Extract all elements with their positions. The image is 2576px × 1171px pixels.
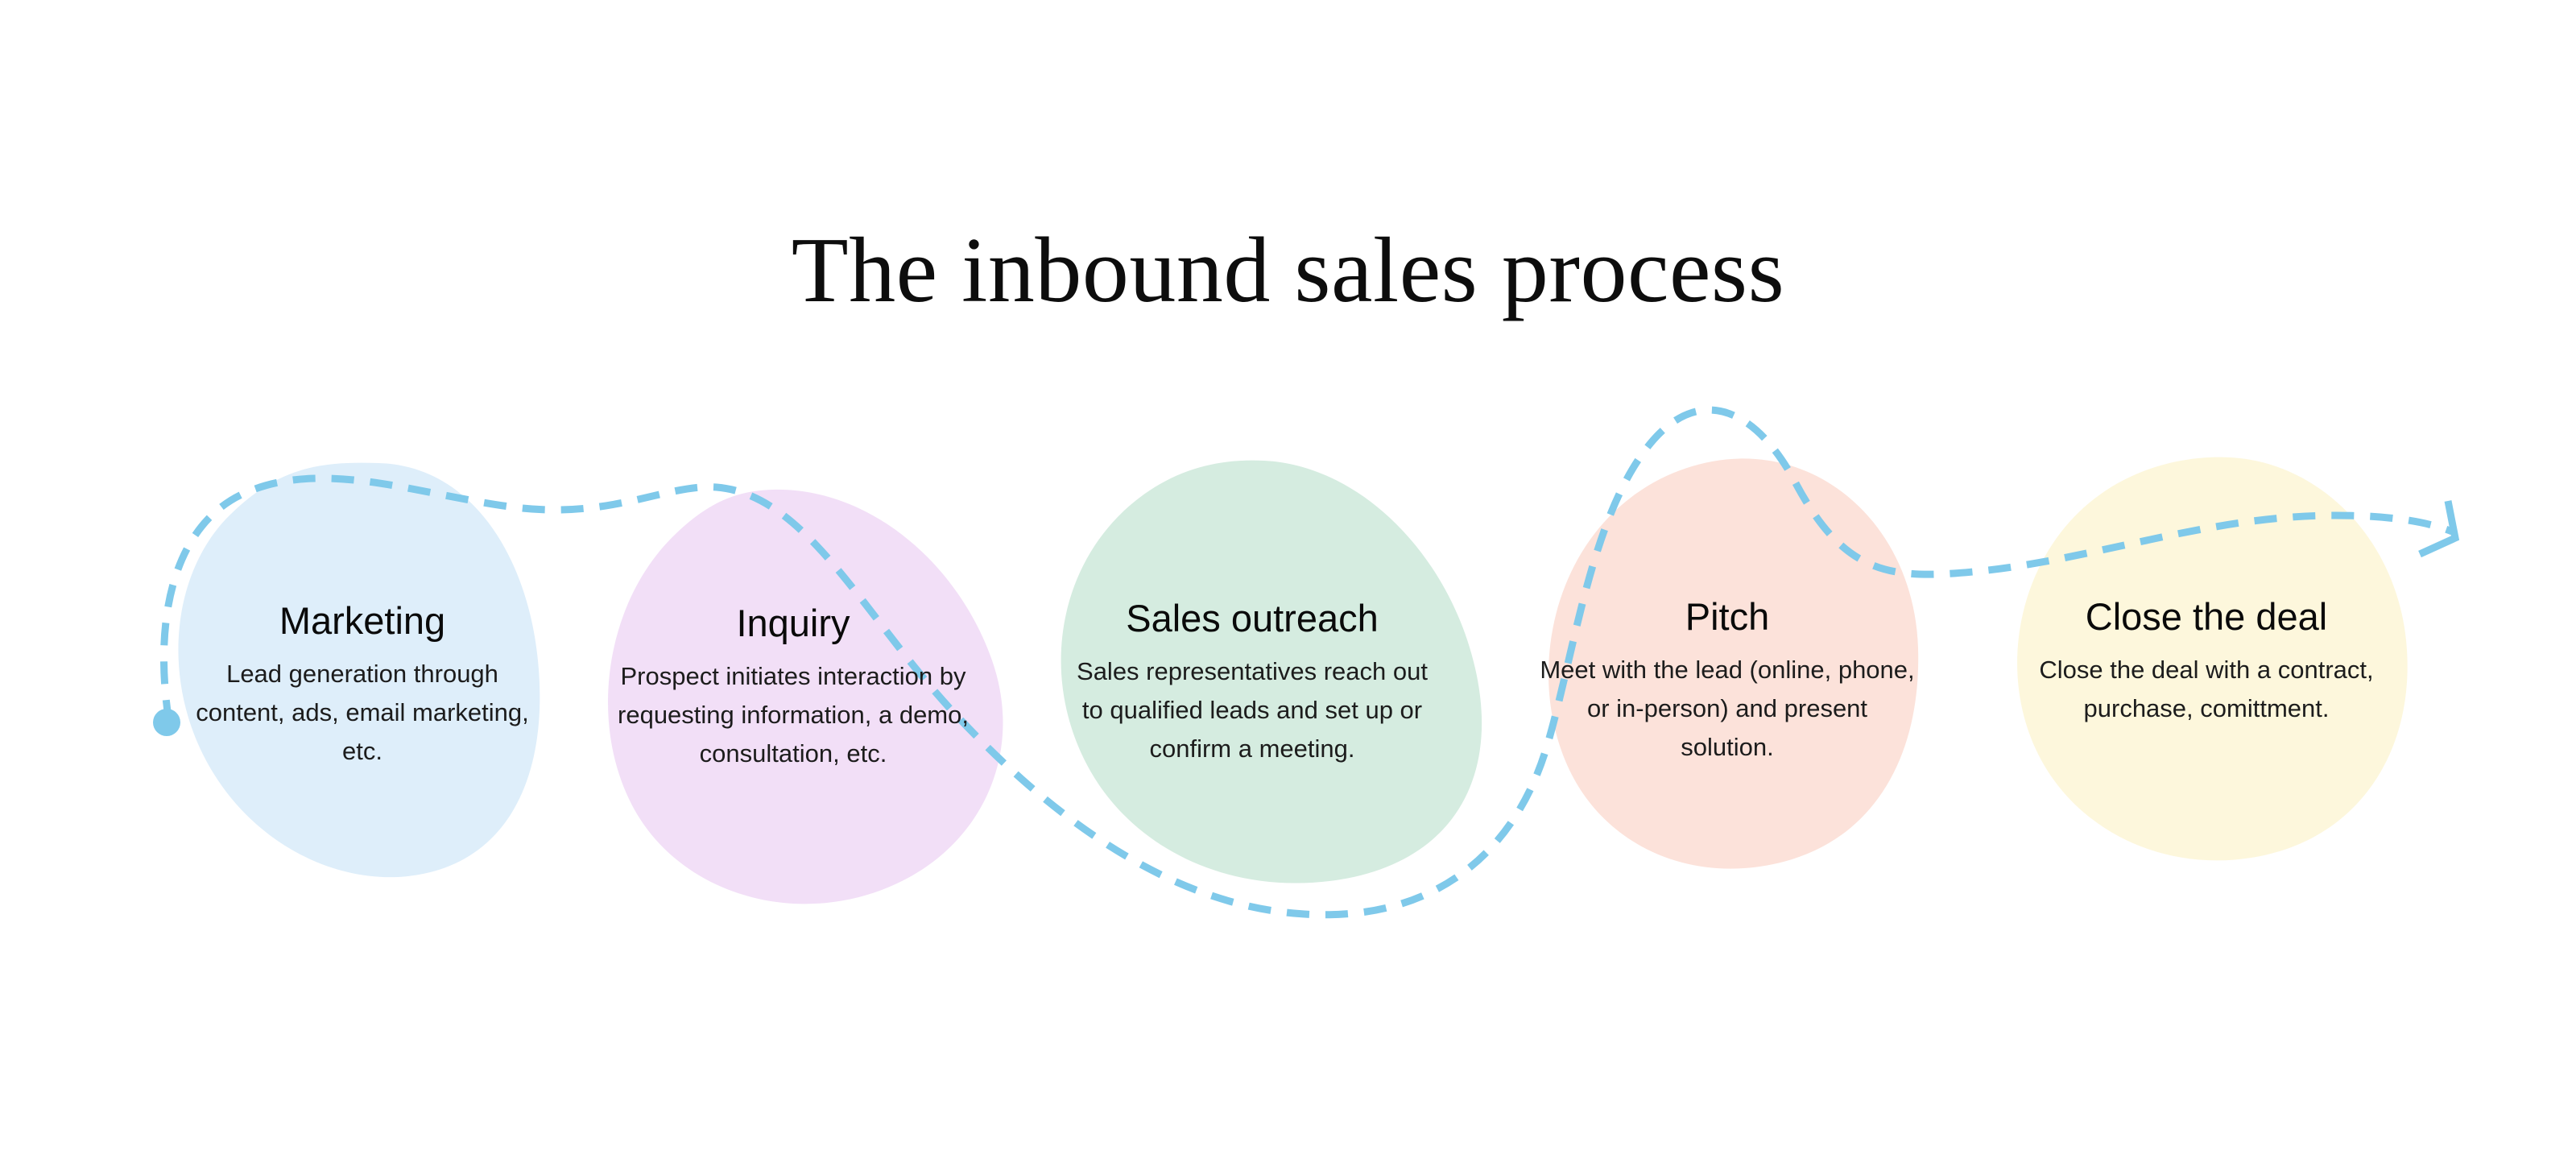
flow-start-dot-icon bbox=[153, 709, 180, 736]
process-flow-diagram bbox=[0, 0, 2576, 1171]
stage-heading: Pitch bbox=[1538, 596, 1916, 638]
stage-body: Close the deal with a contract, purchase… bbox=[2013, 651, 2400, 728]
stage-heading: Marketing bbox=[181, 600, 544, 642]
infographic-canvas: The inbound sales process Marketing Lead… bbox=[0, 0, 2576, 1171]
stage-body: Prospect initiates interaction by reques… bbox=[612, 657, 974, 773]
stage-body: Sales representatives reach out to quali… bbox=[1063, 652, 1441, 768]
stage-heading: Close the deal bbox=[2013, 596, 2400, 638]
flow-arrowhead-icon bbox=[2420, 501, 2455, 554]
stage-heading: Inquiry bbox=[612, 602, 974, 644]
stage-heading: Sales outreach bbox=[1063, 598, 1441, 639]
stage-item-sales-outreach[interactable]: Sales outreach Sales representatives rea… bbox=[1063, 598, 1441, 768]
stage-item-close-the-deal[interactable]: Close the deal Close the deal with a con… bbox=[2013, 596, 2400, 728]
stage-item-marketing[interactable]: Marketing Lead generation through conten… bbox=[181, 600, 544, 771]
stage-item-inquiry[interactable]: Inquiry Prospect initiates interaction b… bbox=[612, 602, 974, 773]
stage-body: Lead generation through content, ads, em… bbox=[181, 655, 544, 771]
stage-item-pitch[interactable]: Pitch Meet with the lead (online, phone,… bbox=[1538, 596, 1916, 767]
stage-body: Meet with the lead (online, phone, or in… bbox=[1538, 651, 1916, 767]
